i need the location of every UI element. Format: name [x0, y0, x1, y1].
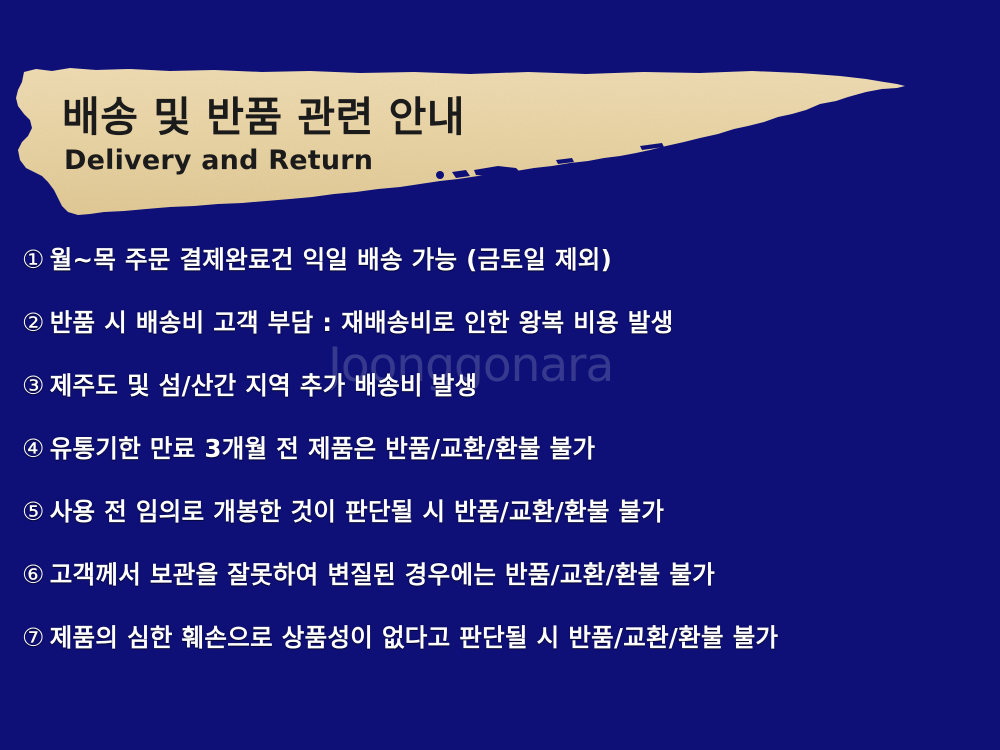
list-text-2: 반품 시 배송비 고객 부담 : 재배송비로 인한 왕복 비용 발생	[50, 308, 674, 337]
list-text-4: 유통기한 만료 3개월 전 제품은 반품/교환/환불 불가	[50, 434, 596, 463]
banner-heading-group: 배송 및 반품 관련 안내 Delivery and Return	[62, 94, 465, 178]
list-text-5: 사용 전 임의로 개봉한 것이 판단될 시 반품/교환/환불 불가	[50, 497, 664, 526]
list-item: ⑥고객께서 보관을 잘못하여 변질된 경우에는 반품/교환/환불 불가	[22, 559, 982, 622]
page-subtitle-english: Delivery and Return	[64, 144, 465, 178]
list-marker-7: ⑦	[22, 622, 45, 654]
list-text-6: 고객께서 보관을 잘못하여 변질된 경우에는 반품/교환/환불 불가	[50, 560, 715, 589]
list-marker-3: ③	[22, 370, 45, 402]
list-marker-5: ⑤	[22, 496, 45, 528]
list-marker-4: ④	[22, 433, 45, 465]
list-item: ④유통기한 만료 3개월 전 제품은 반품/교환/환불 불가	[22, 433, 982, 496]
page-title-korean: 배송 및 반품 관련 안내	[62, 94, 465, 140]
torn-paper-banner: 배송 및 반품 관련 안내 Delivery and Return	[0, 0, 1000, 230]
notice-slide: Joonggonara	[0, 0, 1000, 750]
list-item: ②반품 시 배송비 고객 부담 : 재배송비로 인한 왕복 비용 발생	[22, 307, 982, 370]
list-text-3: 제주도 및 섬/산간 지역 추가 배송비 발생	[50, 371, 478, 400]
list-text-1: 월~목 주문 결제완료건 익일 배송 가능 (금토일 제외)	[50, 245, 612, 274]
list-text-7: 제품의 심한 훼손으로 상품성이 없다고 판단될 시 반품/교환/환불 불가	[50, 623, 779, 652]
list-item: ③제주도 및 섬/산간 지역 추가 배송비 발생	[22, 370, 982, 433]
list-marker-2: ②	[22, 307, 45, 339]
list-item: ⑤사용 전 임의로 개봉한 것이 판단될 시 반품/교환/환불 불가	[22, 496, 982, 559]
notice-list: ①월~목 주문 결제완료건 익일 배송 가능 (금토일 제외) ②반품 시 배송…	[22, 244, 982, 685]
list-marker-1: ①	[22, 244, 45, 276]
list-marker-6: ⑥	[22, 559, 45, 591]
list-item: ⑦제품의 심한 훼손으로 상품성이 없다고 판단될 시 반품/교환/환불 불가	[22, 622, 982, 685]
list-item: ①월~목 주문 결제완료건 익일 배송 가능 (금토일 제외)	[22, 244, 982, 307]
